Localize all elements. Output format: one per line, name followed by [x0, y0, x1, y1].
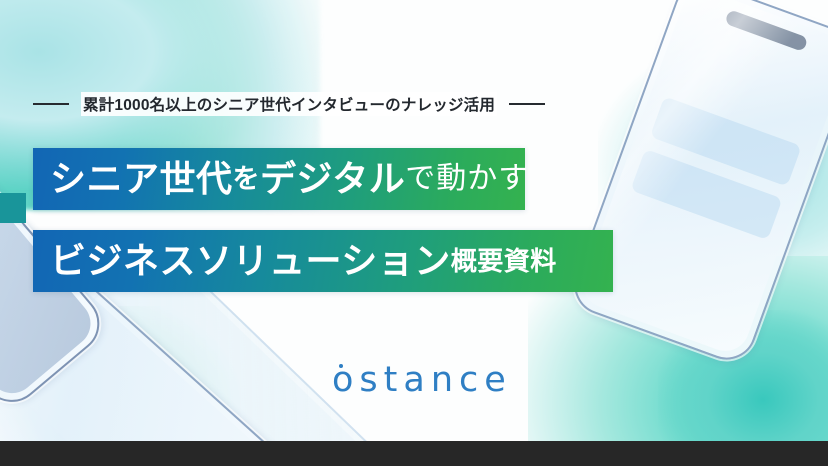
headline-line2-tail: 概要資料 — [451, 248, 557, 274]
eyebrow-text: 累計1000名以上のシニア世代インタビューのナレッジ活用 — [81, 92, 497, 116]
bottom-bar — [0, 441, 828, 466]
teal-accent-square — [0, 193, 26, 223]
eyebrow-tagline: 累計1000名以上のシニア世代インタビューのナレッジ活用 — [33, 92, 545, 116]
eyebrow-rule-right — [509, 103, 545, 105]
slide-canvas: 累計1000名以上のシニア世代インタビューのナレッジ活用 シニア世代 を デジタ… — [0, 0, 828, 466]
headline-line1-particle: を — [233, 166, 261, 193]
ostance-logo: ostance — [332, 363, 512, 398]
logo-wordmark: ostance — [332, 360, 512, 400]
eyebrow-rule-left — [33, 103, 69, 105]
headline-line1-emphasis: シニア世代 — [50, 161, 233, 197]
headline-line1-tail: で動かす — [405, 164, 529, 194]
headline-band-primary: シニア世代 を デジタル で動かす — [33, 148, 525, 210]
headline-line2-emphasis: ビジネスソリューション — [50, 243, 451, 279]
headline-band-secondary: ビジネスソリューション 概要資料 — [33, 230, 613, 292]
headline-line1-emphasis2: デジタル — [260, 161, 405, 197]
logo-dot-icon — [339, 364, 343, 368]
